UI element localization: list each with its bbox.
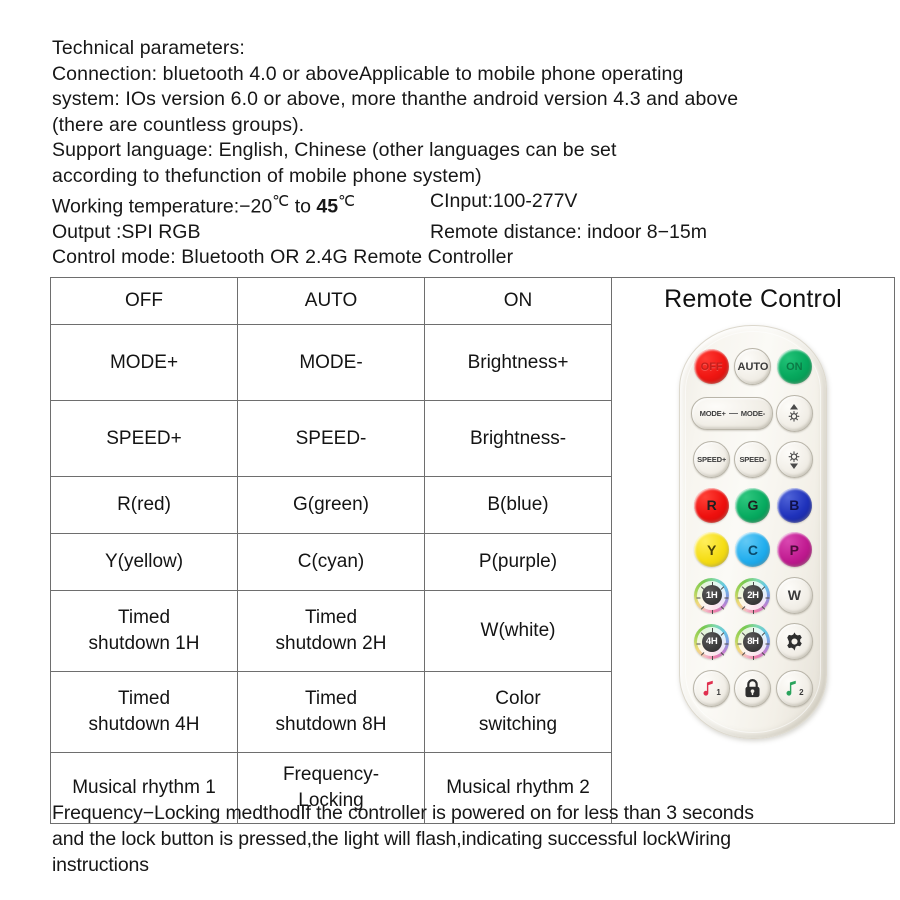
cell-color-switching: Color switching [425,672,612,753]
cell-yellow: Y(yellow) [51,534,238,591]
cell-blue: B(blue) [425,477,612,534]
remote-cyan-button[interactable]: C [735,532,770,567]
remote-off-button[interactable]: OFF [694,349,729,384]
lock-icon [743,678,762,699]
timer-8h-label: 8H [743,632,763,652]
cell-mode-plus: MODE+ [51,325,238,401]
temperature-max: 45 [316,195,338,217]
spec-heading: Technical parameters: [52,36,882,62]
cell-white: W(white) [425,591,612,672]
cell-timed-4h: Timed shutdown 4H [51,672,238,753]
timer-1h-label: 1H [702,585,722,605]
remote-speed-up-button[interactable]: SPEED+ [693,441,730,478]
output-label: Output :SPI RGB [52,220,430,246]
temperature-to: to [289,195,316,217]
music-note-2-number: 2 [799,688,803,697]
frequency-locking-note: Frequency−Locking medthodIf the controll… [52,800,882,878]
brightness-down-icon [783,449,805,471]
remote-control-panel: Remote Control OFF AUTO ON MODE+ MODE- [612,278,895,824]
remote-brightness-down-button[interactable] [776,441,813,478]
spec-line-groups: (there are countless groups). [52,113,882,139]
remote-green-button[interactable]: G [735,488,770,523]
footer-line-1: Frequency−Locking medthodIf the controll… [52,800,882,826]
button-function-table: OFF AUTO ON Remote Control OFF AUTO ON M… [50,277,895,824]
mode-divider-dash [729,413,738,414]
remote-distance: Remote distance: indoor 8−15m [430,220,707,246]
spec-row-temperature: Working temperature:−20℃ to 45℃ CInput:1… [52,189,882,220]
cell-speed-minus: SPEED- [238,401,425,477]
remote-lock-button[interactable] [734,670,771,707]
cell-timed-1h: Timed shutdown 1H [51,591,238,672]
spec-line-language-cont: according to thefunction of mobile phone… [52,164,882,190]
spec-line-language: Support language: English, Chinese (othe… [52,138,882,164]
footer-line-2: and the lock button is pressed,the light… [52,826,882,852]
remote-mode-plus-label: MODE+ [700,409,726,418]
cell-brightness-minus: Brightness- [425,401,612,477]
degree-unit-min: ℃ [272,193,289,210]
spec-line-connection: Connection: bluetooth 4.0 or aboveApplic… [52,62,882,88]
brightness-up-icon [783,402,805,424]
remote-mode-minus-label: MODE- [741,409,765,418]
working-temperature-label: Working temperature:−20 [52,195,272,217]
cell-mode-minus: MODE- [238,325,425,401]
table-header-on: ON [425,278,612,325]
remote-color-switching-button[interactable] [776,623,813,660]
remote-music-rhythm-1-button[interactable]: 1 [693,670,730,707]
cell-cyan: C(cyan) [238,534,425,591]
cell-timed-8h: Timed shutdown 8H [238,672,425,753]
cell-red: R(red) [51,477,238,534]
spec-line-system: system: IOs version 6.0 or above, more t… [52,87,882,113]
remote-mode-button[interactable]: MODE+ MODE- [691,397,773,430]
timer-4h-label: 4H [702,632,722,652]
remote-timer-4h-button[interactable]: 4H [694,624,729,659]
footer-line-3: instructions [52,852,882,878]
remote-music-rhythm-2-button[interactable]: 2 [776,670,813,707]
music-note-2-group: 2 [785,680,803,697]
remote-control-title: Remote Control [612,278,894,314]
music-note-1-number: 1 [716,688,720,697]
gear-icon [784,631,805,652]
music-note-icon [785,680,798,697]
spec-row-output: Output :SPI RGB Remote distance: indoor … [52,220,882,246]
table-header-off: OFF [51,278,238,325]
technical-parameters-block: Technical parameters: Connection: blueto… [52,36,882,271]
control-mode: Control mode: Bluetooth OR 2.4G Remote C… [52,245,882,271]
cell-brightness-plus: Brightness+ [425,325,612,401]
remote-blue-button[interactable]: B [777,488,812,523]
cell-speed-plus: SPEED+ [51,401,238,477]
remote-purple-button[interactable]: P [777,532,812,567]
remote-white-button[interactable]: W [776,577,813,614]
degree-unit-max: ℃ [338,193,355,210]
remote-button-grid: OFF AUTO ON MODE+ MODE- [691,348,815,707]
remote-red-button[interactable]: R [694,488,729,523]
remote-on-button[interactable]: ON [777,349,812,384]
cell-purple: P(purple) [425,534,612,591]
input-voltage: CInput:100-277V [430,189,577,220]
working-temperature: Working temperature:−20℃ to 45℃ [52,189,430,220]
remote-speed-down-button[interactable]: SPEED- [734,441,771,478]
music-note-icon [702,680,715,697]
cell-green: G(green) [238,477,425,534]
remote-timer-8h-button[interactable]: 8H [735,624,770,659]
music-note-1-group: 1 [702,680,720,697]
table-header-auto: AUTO [238,278,425,325]
remote-device-body: OFF AUTO ON MODE+ MODE- [679,325,827,739]
remote-brightness-up-button[interactable] [776,395,813,432]
table-header-row: OFF AUTO ON Remote Control OFF AUTO ON M… [51,278,895,325]
cell-timed-2h: Timed shutdown 2H [238,591,425,672]
remote-auto-button[interactable]: AUTO [734,348,771,385]
remote-timer-1h-button[interactable]: 1H [694,578,729,613]
remote-yellow-button[interactable]: Y [694,532,729,567]
remote-timer-2h-button[interactable]: 2H [735,578,770,613]
timer-2h-label: 2H [743,585,763,605]
